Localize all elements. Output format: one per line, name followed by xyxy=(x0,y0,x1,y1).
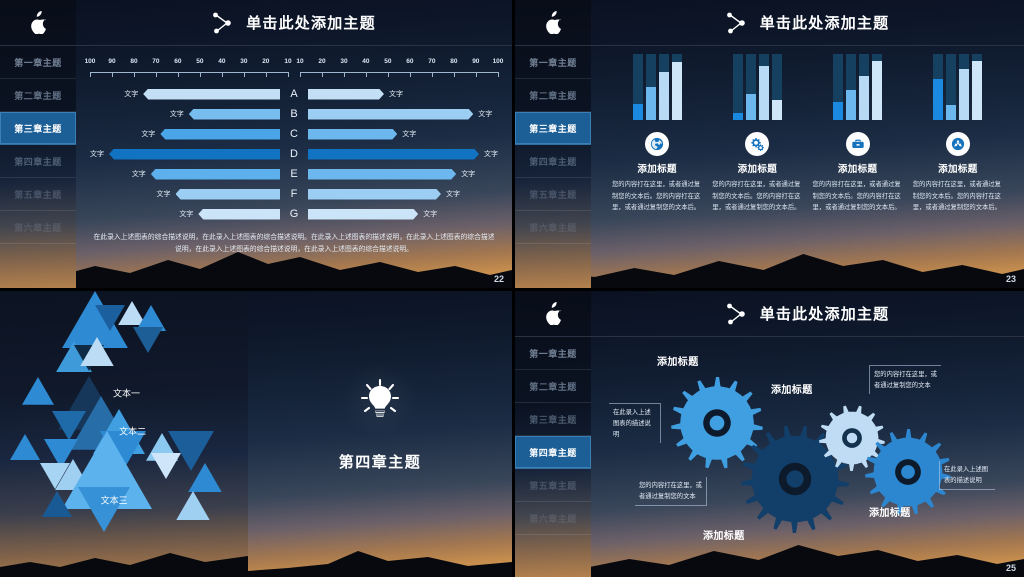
gear-diagram xyxy=(591,337,1024,577)
bar-left xyxy=(143,89,280,100)
bar-track xyxy=(859,54,869,120)
tornado-left: 文字 xyxy=(90,104,286,124)
gear-title-1: 添加标题 xyxy=(657,353,699,368)
sidebar-item-label: 第二章主题 xyxy=(529,89,577,102)
sidebar-item-chapter-2[interactable]: 第二章主题 xyxy=(515,370,591,403)
sidebar-item-chapter-3[interactable]: 第三章主题 xyxy=(0,112,76,145)
category-label: B xyxy=(286,108,302,120)
bar-fill xyxy=(733,113,743,120)
sidebar-tail xyxy=(515,535,591,563)
column-body: 您的内容打在这里，或者通过复制您的文本后。您的内容打在这里，或者通过复制您的文本… xyxy=(813,179,903,214)
sidebar-item-chapter-6[interactable]: 第六章主题 xyxy=(515,502,591,535)
bar-fill xyxy=(759,66,769,120)
sidebar-item-chapter-3[interactable]: 第三章主题 xyxy=(515,112,591,145)
bar-group xyxy=(833,54,882,120)
sidebar-item-label: 第四章主题 xyxy=(529,155,577,168)
tornado-row: 文字F文字 xyxy=(90,184,498,204)
recycle-globe-icon[interactable] xyxy=(946,132,970,156)
sidebar-item-chapter-1[interactable]: 第一章主题 xyxy=(515,46,591,79)
bar-right xyxy=(308,89,384,100)
sidebar-item-label: 第四章主题 xyxy=(14,155,62,168)
page-title: 单击此处添加主题 xyxy=(760,303,890,324)
bar-left xyxy=(198,209,280,220)
category-label: E xyxy=(286,168,302,180)
node-network-icon xyxy=(726,12,750,34)
globe-icon[interactable] xyxy=(645,132,669,156)
bar-right xyxy=(308,189,441,200)
category-label: F xyxy=(286,188,302,200)
gear-note-2: 您的内容打在这里，或者通过复制您的文本 xyxy=(635,477,707,506)
tornado-left: 文字 xyxy=(90,144,286,164)
mountain-silhouette xyxy=(0,531,248,577)
bar-track xyxy=(933,54,943,120)
node-network-icon xyxy=(726,303,750,325)
bar-fill xyxy=(659,72,669,120)
sidebar-item-label: 第一章主题 xyxy=(529,347,577,360)
column-title: 添加标题 xyxy=(738,161,778,175)
sidebar-item-chapter-6[interactable]: 第六章主题 xyxy=(515,211,591,244)
chart-axes: 100 90 80 70 60 50 40 30 20 10 10 20 30 … xyxy=(90,58,498,80)
tornado-row: 文字E文字 xyxy=(90,164,498,184)
tornado-right: 文字 xyxy=(302,144,498,164)
bar-fill xyxy=(946,105,956,120)
bar-fill xyxy=(859,76,869,120)
feature-column: 添加标题您的内容打在这里，或者通过复制您的文本后。您的内容打在这里，或者通过复制… xyxy=(707,54,807,280)
bar-label-left: 文字 xyxy=(179,209,193,219)
apple-logo-icon xyxy=(0,0,76,46)
sidebar-item-chapter-5[interactable]: 第五章主题 xyxy=(0,178,76,211)
bar-track xyxy=(633,54,643,120)
sidebar: 第一章主题 第二章主题 第三章主题 第四章主题 第五章主题 第六章主题 xyxy=(515,0,591,288)
category-label: G xyxy=(286,208,302,220)
apple-logo-icon xyxy=(515,0,591,46)
column-body: 您的内容打在这里，或者通过复制您的文本后。您的内容打在这里，或者通过复制您的文本… xyxy=(712,179,802,214)
slide-25-body: 添加标题 添加标题 添加标题 添加标题 在此录入上述图表的描述说明 您的内容打在… xyxy=(591,337,1024,577)
bar-fill xyxy=(872,61,882,120)
chapter-cover-layout: 文本一 文本二 文本三 xyxy=(0,291,512,577)
bar-label-left: 文字 xyxy=(124,89,138,99)
sidebar-item-label: 第五章主题 xyxy=(14,188,62,201)
tornado-right: 文字 xyxy=(302,104,498,124)
bar-right xyxy=(308,169,456,180)
bar-label-left: 文字 xyxy=(132,169,146,179)
triangle-shape xyxy=(188,463,222,492)
triangle-shape xyxy=(133,327,163,353)
bar-fill xyxy=(959,69,969,120)
sidebar-item-chapter-1[interactable]: 第一章主题 xyxy=(515,337,591,370)
gear-title-2: 添加标题 xyxy=(771,381,813,396)
sidebar: 第一章主题 第二章主题 第三章主题 第四章主题 第五章主题 第六章主题 xyxy=(515,291,591,577)
triangle-label-2: 文本二 xyxy=(119,425,146,438)
tornado-right: 文字 xyxy=(302,84,498,104)
bar-label-right: 文字 xyxy=(402,129,416,139)
gear-title-3: 添加标题 xyxy=(703,527,745,542)
triangle-shape xyxy=(176,491,210,520)
gear-title-4: 添加标题 xyxy=(869,504,911,519)
sidebar-item-label: 第四章主题 xyxy=(529,446,577,459)
chapter-title-panel: 第四章主题 xyxy=(248,291,512,577)
slide-23: 第一章主题 第二章主题 第三章主题 第四章主题 第五章主题 第六章主题 单击此处… xyxy=(512,0,1024,288)
triangle-label-3: 文本三 xyxy=(101,493,128,506)
triangle-shape xyxy=(22,377,54,405)
bar-label-right: 文字 xyxy=(389,89,403,99)
feature-column: 添加标题您的内容打在这里，或者通过复制您的文本后。您的内容打在这里，或者通过复制… xyxy=(808,54,908,280)
gear-note-4: 在此录入上述图表的描述说明 xyxy=(939,461,995,490)
bar-right xyxy=(308,209,418,220)
sidebar-item-label: 第三章主题 xyxy=(529,122,577,135)
tornado-left: 文字 xyxy=(90,84,286,104)
bar-track xyxy=(733,54,743,120)
bar-fill xyxy=(633,104,643,121)
slide-header: 单击此处添加主题 xyxy=(591,0,1024,46)
tornado-row: 文字B文字 xyxy=(90,104,498,124)
bar-fill xyxy=(972,61,982,120)
sidebar-item-label: 第二章主题 xyxy=(529,380,577,393)
sidebar-item-chapter-2[interactable]: 第二章主题 xyxy=(515,79,591,112)
feature-columns: 添加标题您的内容打在这里，或者通过复制您的文本后。您的内容打在这里，或者通过复制… xyxy=(607,54,1008,280)
bar-fill xyxy=(833,102,843,120)
gear-note-1: 在此录入上述图表的描述说明 xyxy=(609,403,661,443)
sidebar-tail xyxy=(0,244,76,272)
bar-right xyxy=(308,149,479,160)
chapter-title: 第四章主题 xyxy=(248,451,512,472)
bar-track xyxy=(833,54,843,120)
slide-header: 单击此处添加主题 xyxy=(76,0,512,46)
page-number: 23 xyxy=(1006,274,1016,284)
feature-column: 添加标题您的内容打在这里，或者通过复制您的文本后。您的内容打在这里，或者通过复制… xyxy=(607,54,707,280)
bar-label-right: 文字 xyxy=(446,189,460,199)
gears-icon[interactable] xyxy=(745,132,769,156)
tornado-right: 文字 xyxy=(302,164,498,184)
sidebar-item-chapter-6[interactable]: 第六章主题 xyxy=(0,211,76,244)
triangle-mosaic: 文本一 文本二 文本三 xyxy=(0,291,248,577)
sidebar-item-chapter-4[interactable]: 第四章主题 xyxy=(515,436,591,469)
slide-grid: 第一章主题 第二章主题 第三章主题 第四章主题 第五章主题 第六章主题 单击此处… xyxy=(0,0,1024,577)
triangle-shape xyxy=(168,431,214,471)
bar-track xyxy=(946,54,956,120)
sidebar-item-chapter-1[interactable]: 第一章主题 xyxy=(0,46,76,79)
chart-description: 在此录入上述图表的综合描述说明，在此录入上述图表的综合描述说明。在此录入上述图表… xyxy=(92,232,496,256)
triangle-shape xyxy=(10,434,40,460)
sidebar-item-label: 第六章主题 xyxy=(529,512,577,525)
tornado-left: 文字 xyxy=(90,184,286,204)
bar-group xyxy=(633,54,682,120)
bar-track xyxy=(672,54,682,120)
bar-track xyxy=(972,54,982,120)
feature-column: 添加标题您的内容打在这里，或者通过复制您的文本后。您的内容打在这里，或者通过复制… xyxy=(908,54,1008,280)
bar-label-right: 文字 xyxy=(423,209,437,219)
sidebar-item-chapter-4[interactable]: 第四章主题 xyxy=(0,145,76,178)
slide-header: 单击此处添加主题 xyxy=(591,291,1024,337)
sidebar-tail xyxy=(515,244,591,272)
tornado-left: 文字 xyxy=(90,204,286,224)
bar-track xyxy=(772,54,782,120)
tornado-row: 文字A文字 xyxy=(90,84,498,104)
bar-track xyxy=(872,54,882,120)
sidebar-item-label: 第六章主题 xyxy=(14,221,62,234)
page-number: 22 xyxy=(494,274,504,284)
sidebar: 第一章主题 第二章主题 第三章主题 第四章主题 第五章主题 第六章主题 xyxy=(0,0,76,288)
sidebar-item-label: 第三章主题 xyxy=(529,413,577,426)
slide-chapter-4-cover: 文本一 文本二 文本三 xyxy=(0,288,512,577)
axis-right: 10 20 30 40 50 60 70 80 90 100 xyxy=(300,58,498,80)
sidebar-item-chapter-5[interactable]: 第五章主题 xyxy=(515,469,591,502)
bar-left xyxy=(189,109,280,120)
axis-line xyxy=(300,72,498,73)
tornado-right: 文字 xyxy=(302,124,498,144)
tornado-left: 文字 xyxy=(90,124,286,144)
category-label: D xyxy=(286,148,302,160)
sidebar-item-label: 第五章主题 xyxy=(529,479,577,492)
bar-fill xyxy=(933,79,943,120)
bar-group xyxy=(933,54,982,120)
column-title: 添加标题 xyxy=(637,161,677,175)
bar-fill xyxy=(746,94,756,120)
sidebar-item-label: 第六章主题 xyxy=(529,221,577,234)
bar-label-left: 文字 xyxy=(141,129,155,139)
bar-track xyxy=(959,54,969,120)
triangle-shape xyxy=(62,291,128,348)
bar-right xyxy=(308,109,473,120)
bar-fill xyxy=(672,62,682,120)
bar-right xyxy=(308,129,397,140)
page-title: 单击此处添加主题 xyxy=(760,12,890,33)
triangle-shape xyxy=(151,453,181,479)
column-title: 添加标题 xyxy=(838,161,878,175)
bar-label-right: 文字 xyxy=(484,149,498,159)
category-label: C xyxy=(286,128,302,140)
column-title: 添加标题 xyxy=(938,161,978,175)
sidebar-item-label: 第二章主题 xyxy=(14,89,62,102)
sidebar-item-label: 第一章主题 xyxy=(14,56,62,69)
lightbulb-icon xyxy=(342,362,418,438)
sidebar-item-chapter-3[interactable]: 第三章主题 xyxy=(515,403,591,436)
bar-track xyxy=(846,54,856,120)
tornado-row: 文字G文字 xyxy=(90,204,498,224)
bar-left xyxy=(176,189,281,200)
triangle-label-1: 文本一 xyxy=(113,386,140,399)
bar-label-left: 文字 xyxy=(90,149,104,159)
briefcase-icon[interactable] xyxy=(846,132,870,156)
bar-track xyxy=(759,54,769,120)
bar-fill xyxy=(846,90,856,120)
slide-25: 第一章主题 第二章主题 第三章主题 第四章主题 第五章主题 第六章主题 单击此处… xyxy=(512,288,1024,577)
tornado-left: 文字 xyxy=(90,164,286,184)
tornado-row: 文字D文字 xyxy=(90,144,498,164)
tornado-right: 文字 xyxy=(302,204,498,224)
bar-label-left: 文字 xyxy=(170,109,184,119)
sidebar-item-label: 第五章主题 xyxy=(529,188,577,201)
axis-left: 100 90 80 70 60 50 40 30 20 10 xyxy=(90,58,288,80)
sidebar-item-chapter-4[interactable]: 第四章主题 xyxy=(515,145,591,178)
bar-track xyxy=(646,54,656,120)
tornado-row: 文字C文字 xyxy=(90,124,498,144)
axis-line xyxy=(90,72,288,73)
bar-track xyxy=(659,54,669,120)
bar-left xyxy=(109,149,280,160)
column-body: 您的内容打在这里，或者通过复制您的文本后。您的内容打在这里，或者通过复制您的文本… xyxy=(913,179,1003,214)
bar-label-right: 文字 xyxy=(478,109,492,119)
bar-left xyxy=(160,129,280,140)
bar-group xyxy=(733,54,782,120)
column-body: 您的内容打在这里，或者通过复制您的文本后。您的内容打在这里，或者通过复制您的文本… xyxy=(612,179,702,214)
bar-left xyxy=(151,169,280,180)
tornado-right: 文字 xyxy=(302,184,498,204)
bar-fill xyxy=(772,100,782,120)
bar-label-right: 文字 xyxy=(461,169,475,179)
slide-22-body: 100 90 80 70 60 50 40 30 20 10 10 20 30 … xyxy=(76,46,512,288)
gear-note-3: 您的内容打在这里，或者通过复制您的文本 xyxy=(869,365,941,394)
slide-22: 第一章主题 第二章主题 第三章主题 第四章主题 第五章主题 第六章主题 单击此处… xyxy=(0,0,512,288)
page-title: 单击此处添加主题 xyxy=(246,12,376,33)
node-network-icon xyxy=(212,12,236,34)
bar-label-left: 文字 xyxy=(157,189,171,199)
page-number: 25 xyxy=(1006,563,1016,573)
sidebar-item-label: 第一章主题 xyxy=(529,56,577,69)
sidebar-item-label: 第三章主题 xyxy=(14,122,62,135)
category-label: A xyxy=(286,88,302,100)
sidebar-item-chapter-2[interactable]: 第二章主题 xyxy=(0,79,76,112)
tornado-rows: 文字A文字文字B文字文字C文字文字D文字文字E文字文字F文字文字G文字 xyxy=(90,84,498,224)
mountain-silhouette xyxy=(248,531,512,577)
bar-track xyxy=(746,54,756,120)
apple-logo-icon xyxy=(515,291,591,337)
bar-fill xyxy=(646,87,656,120)
slide-23-body: 添加标题您的内容打在这里，或者通过复制您的文本后。您的内容打在这里，或者通过复制… xyxy=(591,46,1024,288)
sidebar-item-chapter-5[interactable]: 第五章主题 xyxy=(515,178,591,211)
